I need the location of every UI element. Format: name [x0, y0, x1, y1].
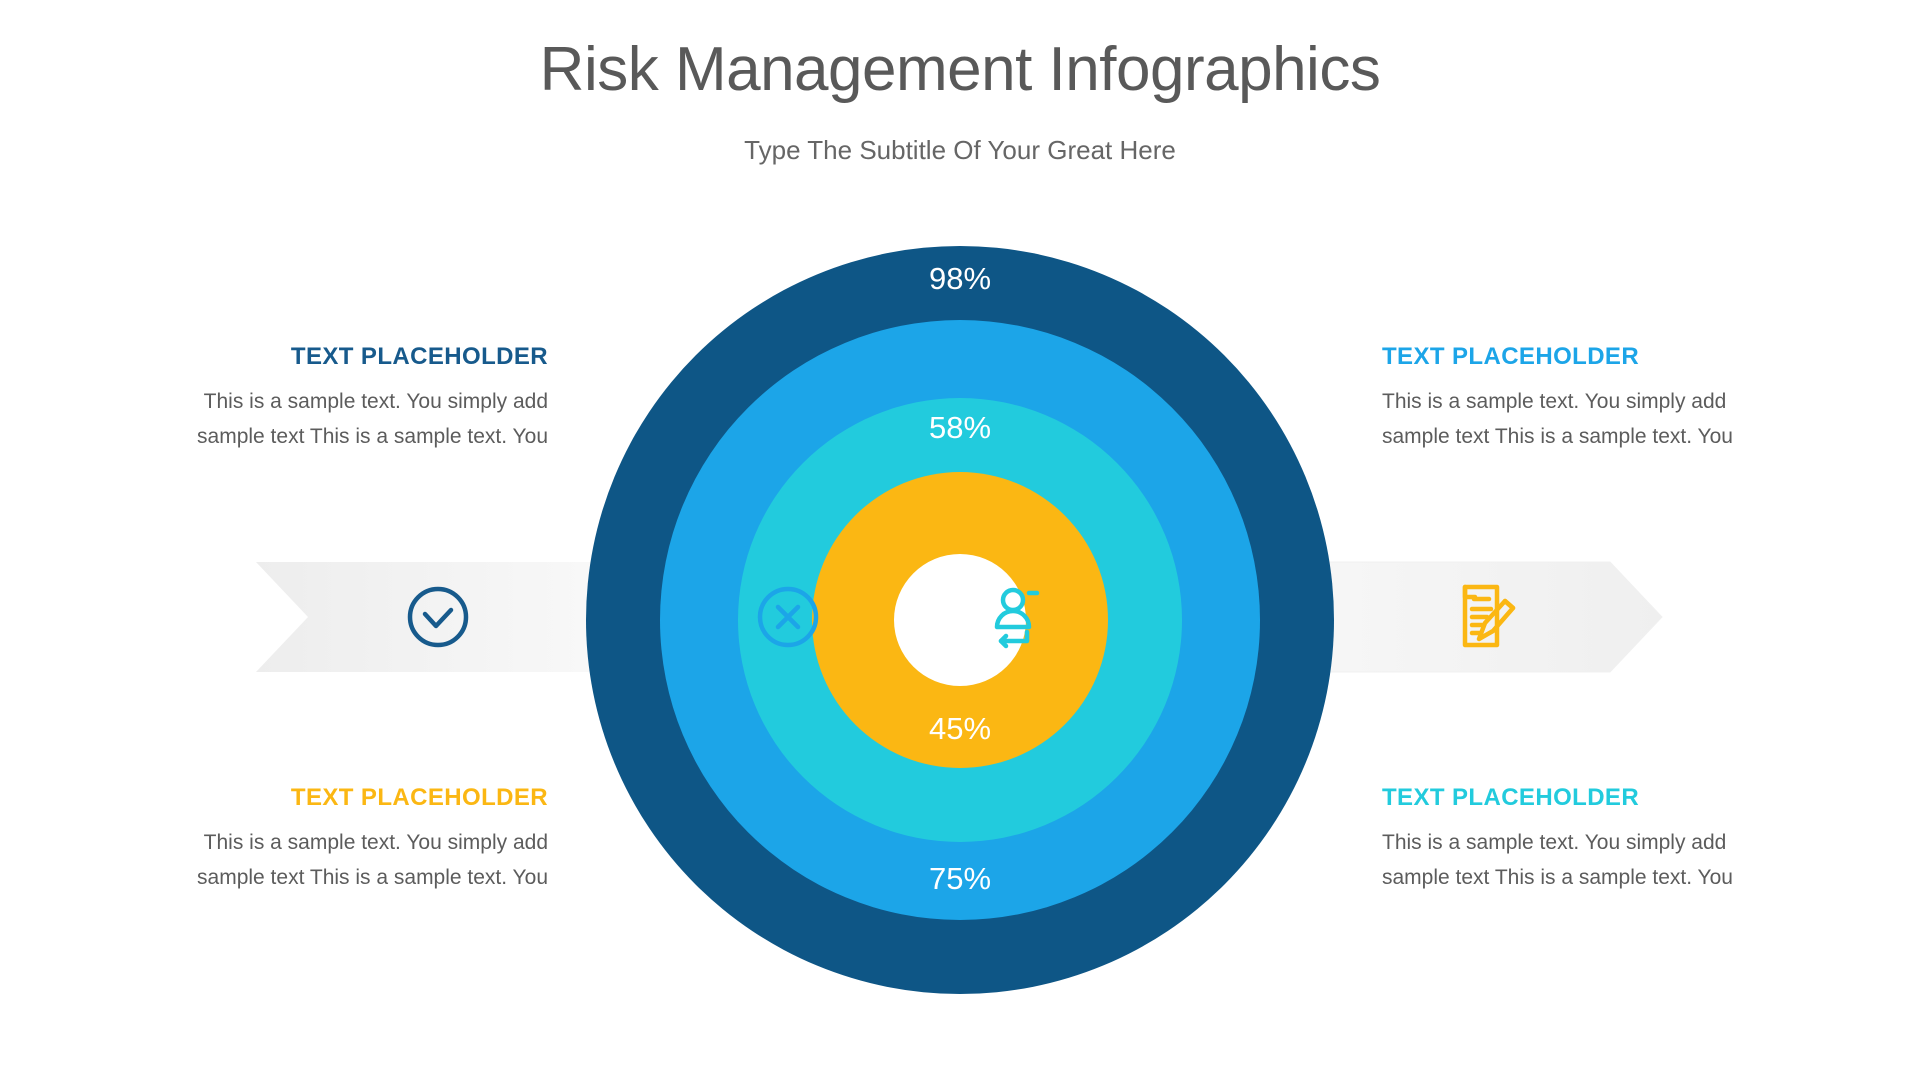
- ribbon-icons-layer: [0, 556, 1920, 678]
- ring-label-98: 98%: [929, 261, 991, 296]
- text-block-heading: TEXT PLACEHOLDER: [130, 784, 548, 812]
- slide-canvas: Risk Management Infographics Type The Su…: [0, 0, 1920, 1080]
- ring-label-45: 45%: [929, 711, 991, 746]
- text-block-body-line-1: This is a sample text. You simply add: [130, 385, 548, 420]
- x-circle-icon[interactable]: [760, 589, 816, 645]
- text-block-body-line-1: This is a sample text. You simply add: [1382, 826, 1800, 861]
- text-block-body-line-1: This is a sample text. You simply add: [130, 826, 548, 861]
- text-block-top-right: TEXT PLACEHOLDER This is a sample text. …: [1382, 343, 1800, 454]
- page-subtitle: Type The Subtitle Of Your Great Here: [0, 135, 1920, 166]
- check-circle-icon[interactable]: [410, 589, 466, 645]
- text-block-body-line-1: This is a sample text. You simply add: [1382, 385, 1800, 420]
- ring-label-58: 58%: [929, 410, 991, 445]
- ring-label-75: 75%: [929, 861, 991, 896]
- text-block-body-line-2: sample text This is a sample text. You: [1382, 420, 1800, 455]
- text-block-body-line-2: sample text This is a sample text. You: [130, 420, 548, 455]
- text-block-heading: TEXT PLACEHOLDER: [1382, 784, 1800, 812]
- text-block-top-left: TEXT PLACEHOLDER This is a sample text. …: [130, 343, 548, 454]
- page-title: Risk Management Infographics: [0, 34, 1920, 105]
- text-block-body-line-2: sample text This is a sample text. You: [1382, 861, 1800, 896]
- document-pencil-icon[interactable]: [1465, 587, 1513, 645]
- text-block-heading: TEXT PLACEHOLDER: [1382, 343, 1800, 371]
- text-block-bottom-right: TEXT PLACEHOLDER This is a sample text. …: [1382, 784, 1800, 895]
- user-return-icon[interactable]: [997, 590, 1037, 646]
- text-block-body-line-2: sample text This is a sample text. You: [130, 861, 548, 896]
- text-block-heading: TEXT PLACEHOLDER: [130, 343, 548, 371]
- text-block-bottom-left: TEXT PLACEHOLDER This is a sample text. …: [130, 784, 548, 895]
